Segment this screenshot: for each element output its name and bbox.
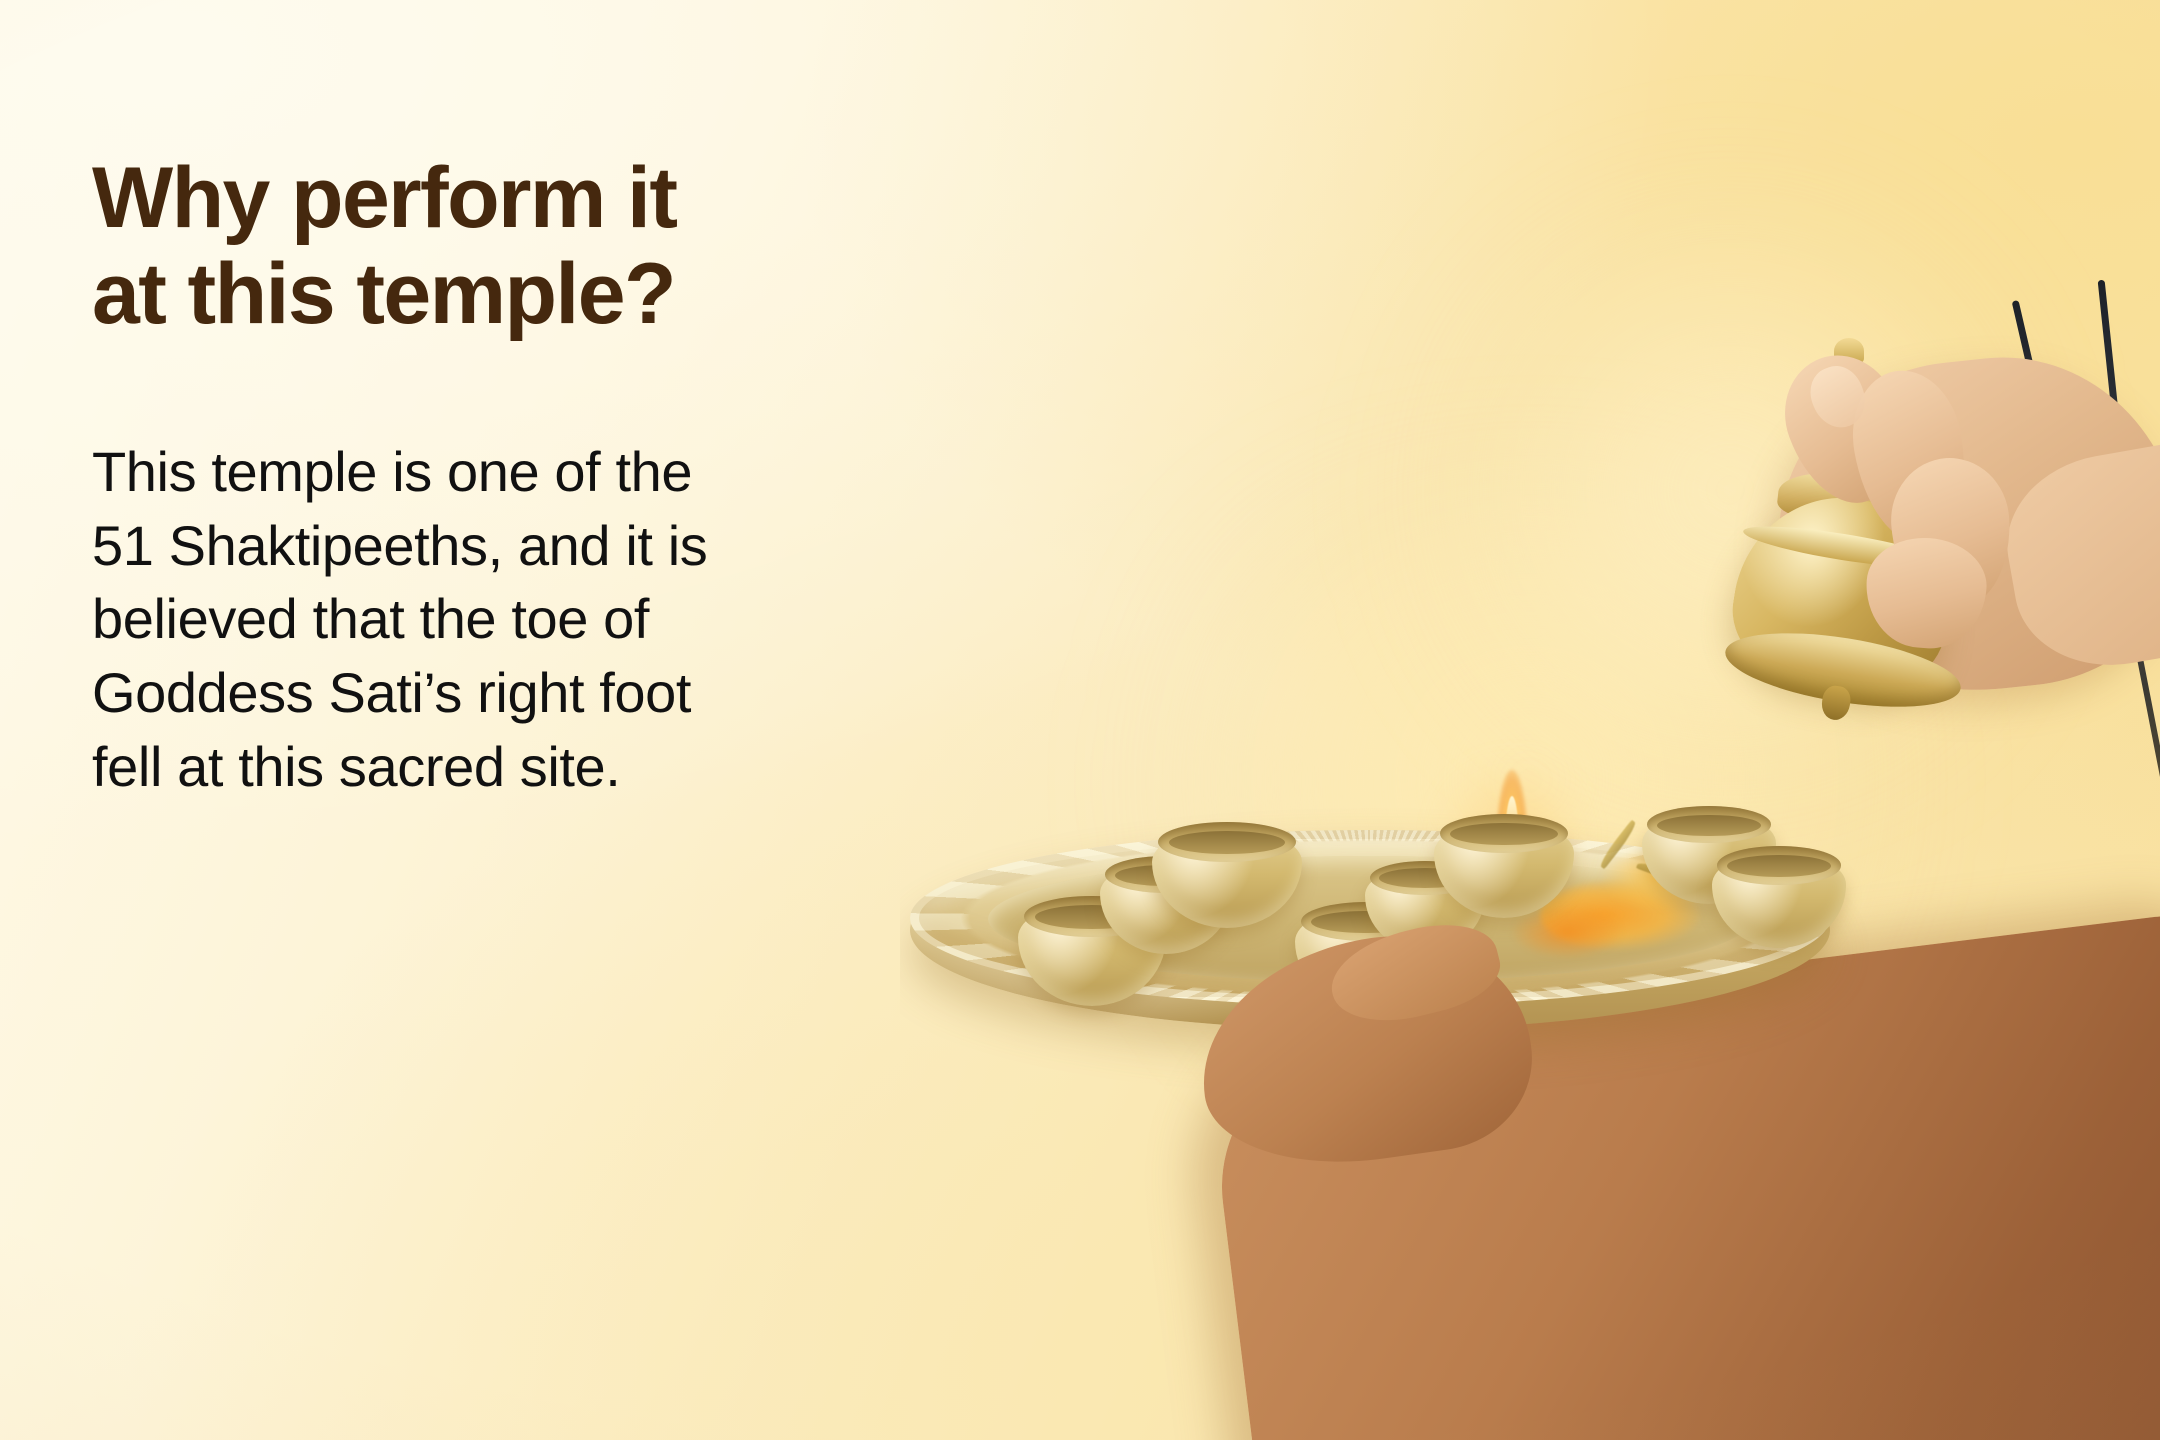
katori-bowl	[1434, 820, 1574, 918]
bowl-mouth	[1158, 822, 1296, 862]
bell-hand	[1660, 330, 2160, 890]
katori-bowl	[1152, 828, 1302, 928]
slide-canvas: Why perform it at this temple? This temp…	[0, 0, 2160, 1440]
puja-photo	[900, 0, 2160, 1440]
